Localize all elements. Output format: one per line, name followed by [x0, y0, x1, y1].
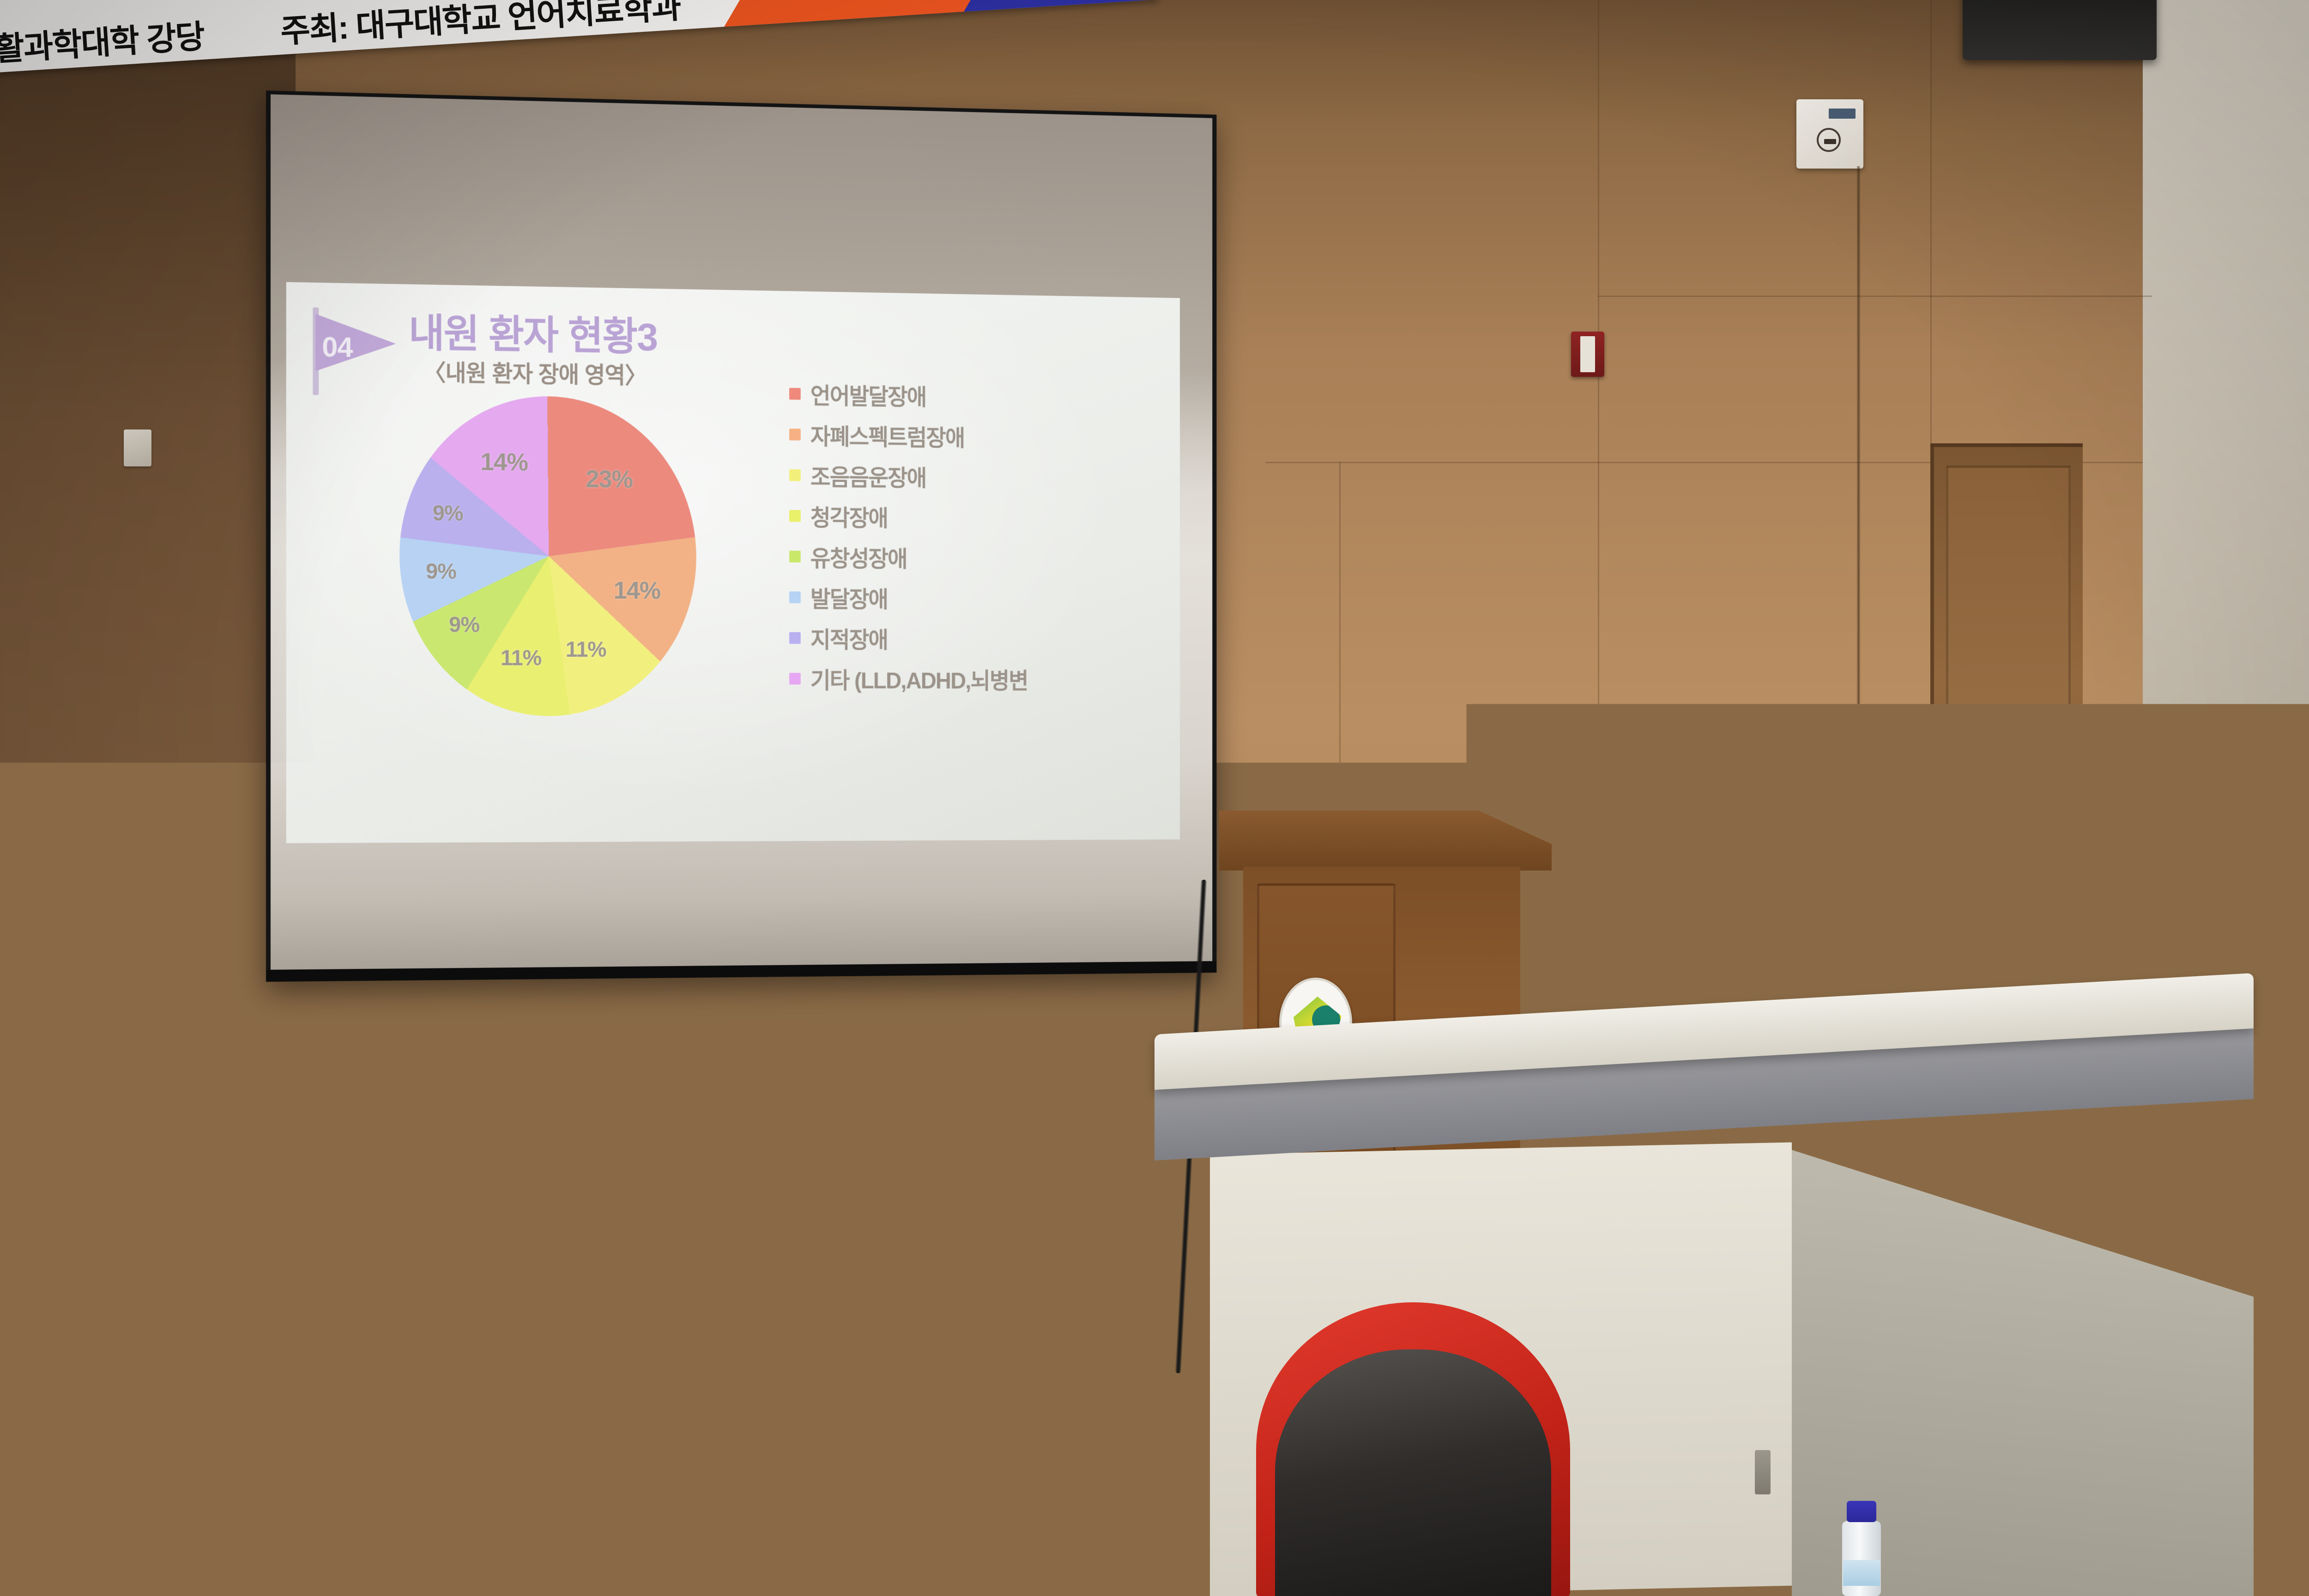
podium-top	[1219, 810, 1552, 871]
slide-subtitle: 〈내원 환자 장애 영역〉	[423, 354, 647, 390]
legend-label: 발달장애	[810, 581, 888, 614]
sensor-display-bar	[1829, 109, 1856, 119]
legend-swatch	[789, 632, 801, 644]
pie-slice-label: 9%	[449, 612, 479, 638]
pie-slice-label: 14%	[614, 576, 661, 605]
lecture-hall-photo: 활과학대학 강당 주최: 대구대학교 언어치료학과 04	[0, 0, 2309, 1596]
wall-cable	[1856, 166, 1861, 785]
wall-jack[interactable]	[78, 965, 105, 1002]
banner-venue-text: 활과학대학 강당	[0, 11, 206, 70]
legend-swatch	[789, 388, 801, 400]
legend-label: 유창성장애	[810, 540, 907, 574]
legend-item: 발달장애	[789, 583, 1171, 613]
wall-jack[interactable]	[124, 429, 151, 466]
legend-swatch	[789, 469, 801, 481]
legend-swatch	[789, 429, 801, 441]
pie-slice-label: 9%	[433, 501, 463, 526]
fire-alarm-box[interactable]	[1571, 332, 1604, 377]
wall-sensor-panel[interactable]	[1796, 99, 1863, 169]
chart-legend: 언어발달장애자폐스펙트럼장애조음음운장애청각장애유창성장애발달장애지적장애기타 …	[789, 380, 1171, 706]
sensor-eye-icon	[1817, 128, 1841, 152]
wall-jack[interactable]	[623, 1002, 651, 1039]
legend-label: 언어발달장애	[810, 378, 926, 412]
legend-swatch	[789, 550, 801, 562]
presenter-earring	[2001, 848, 2009, 862]
wall-left-shadow	[0, 0, 296, 1044]
pie-slice-label: 23%	[586, 465, 633, 494]
legend-swatch	[789, 592, 801, 604]
bottle-label	[1843, 1560, 1880, 1586]
legend-item: 기타 (LLD,ADHD,뇌병변	[789, 665, 1171, 693]
legend-item: 언어발달장애	[789, 380, 1171, 413]
panel-indicator-dots	[2296, 892, 2309, 919]
pie-slice-label: 11%	[566, 637, 606, 662]
bottle-cap	[1847, 1501, 1876, 1522]
pie-chart: 23%14%11%11%9%9%9%14%	[399, 394, 714, 725]
wall-panel	[2288, 880, 2309, 931]
pie-slice-label: 14%	[480, 447, 528, 477]
pie-slice-label: 11%	[501, 646, 541, 671]
auditorium-seat	[1256, 1302, 1570, 1596]
wall-seam	[1930, 0, 1932, 443]
auditorium-seat	[614, 1376, 891, 1596]
legend-label: 청각장애	[810, 500, 888, 533]
legend-swatch	[789, 510, 801, 522]
fire-alarm-label	[1580, 336, 1595, 372]
legend-item: 지적장애	[789, 624, 1171, 653]
legend-item: 자폐스펙트럼장애	[789, 420, 1171, 453]
presentation-slide: 04 내원 환자 현황3 〈내원 환자 장애 영역〉 23%14%11%11%9…	[286, 282, 1180, 843]
legend-label: 지적장애	[810, 622, 888, 654]
lectern-hinge	[1755, 1450, 1771, 1494]
wall-jack[interactable]	[42, 965, 69, 1002]
legend-label: 자폐스펙트럼장애	[810, 418, 965, 453]
projection-surface: 04 내원 환자 현황3 〈내원 환자 장애 영역〉 23%14%11%11%9…	[271, 94, 1212, 970]
section-number: 04	[322, 331, 372, 364]
projection-screen: 04 내원 환자 현황3 〈내원 환자 장애 영역〉 23%14%11%11%9…	[266, 91, 1216, 982]
legend-label: 조음음운장애	[810, 459, 926, 493]
legend-item: 청각장애	[789, 502, 1171, 533]
audience-head	[1099, 1469, 1293, 1596]
legend-item: 유창성장애	[789, 543, 1171, 573]
pie-disc	[398, 396, 697, 717]
legend-item: 조음음운장애	[789, 461, 1171, 493]
water-bottle[interactable]	[1840, 1501, 1883, 1596]
pie-slice-label: 9%	[426, 559, 456, 584]
wall-seam	[1598, 296, 2152, 297]
ceiling-speaker	[1963, 0, 2157, 60]
legend-label: 기타 (LLD,ADHD,뇌병변	[810, 663, 1028, 695]
slide-title: 내원 환자 현황3	[409, 301, 657, 362]
section-flag-badge: 04	[306, 307, 406, 396]
legend-swatch	[789, 673, 801, 685]
